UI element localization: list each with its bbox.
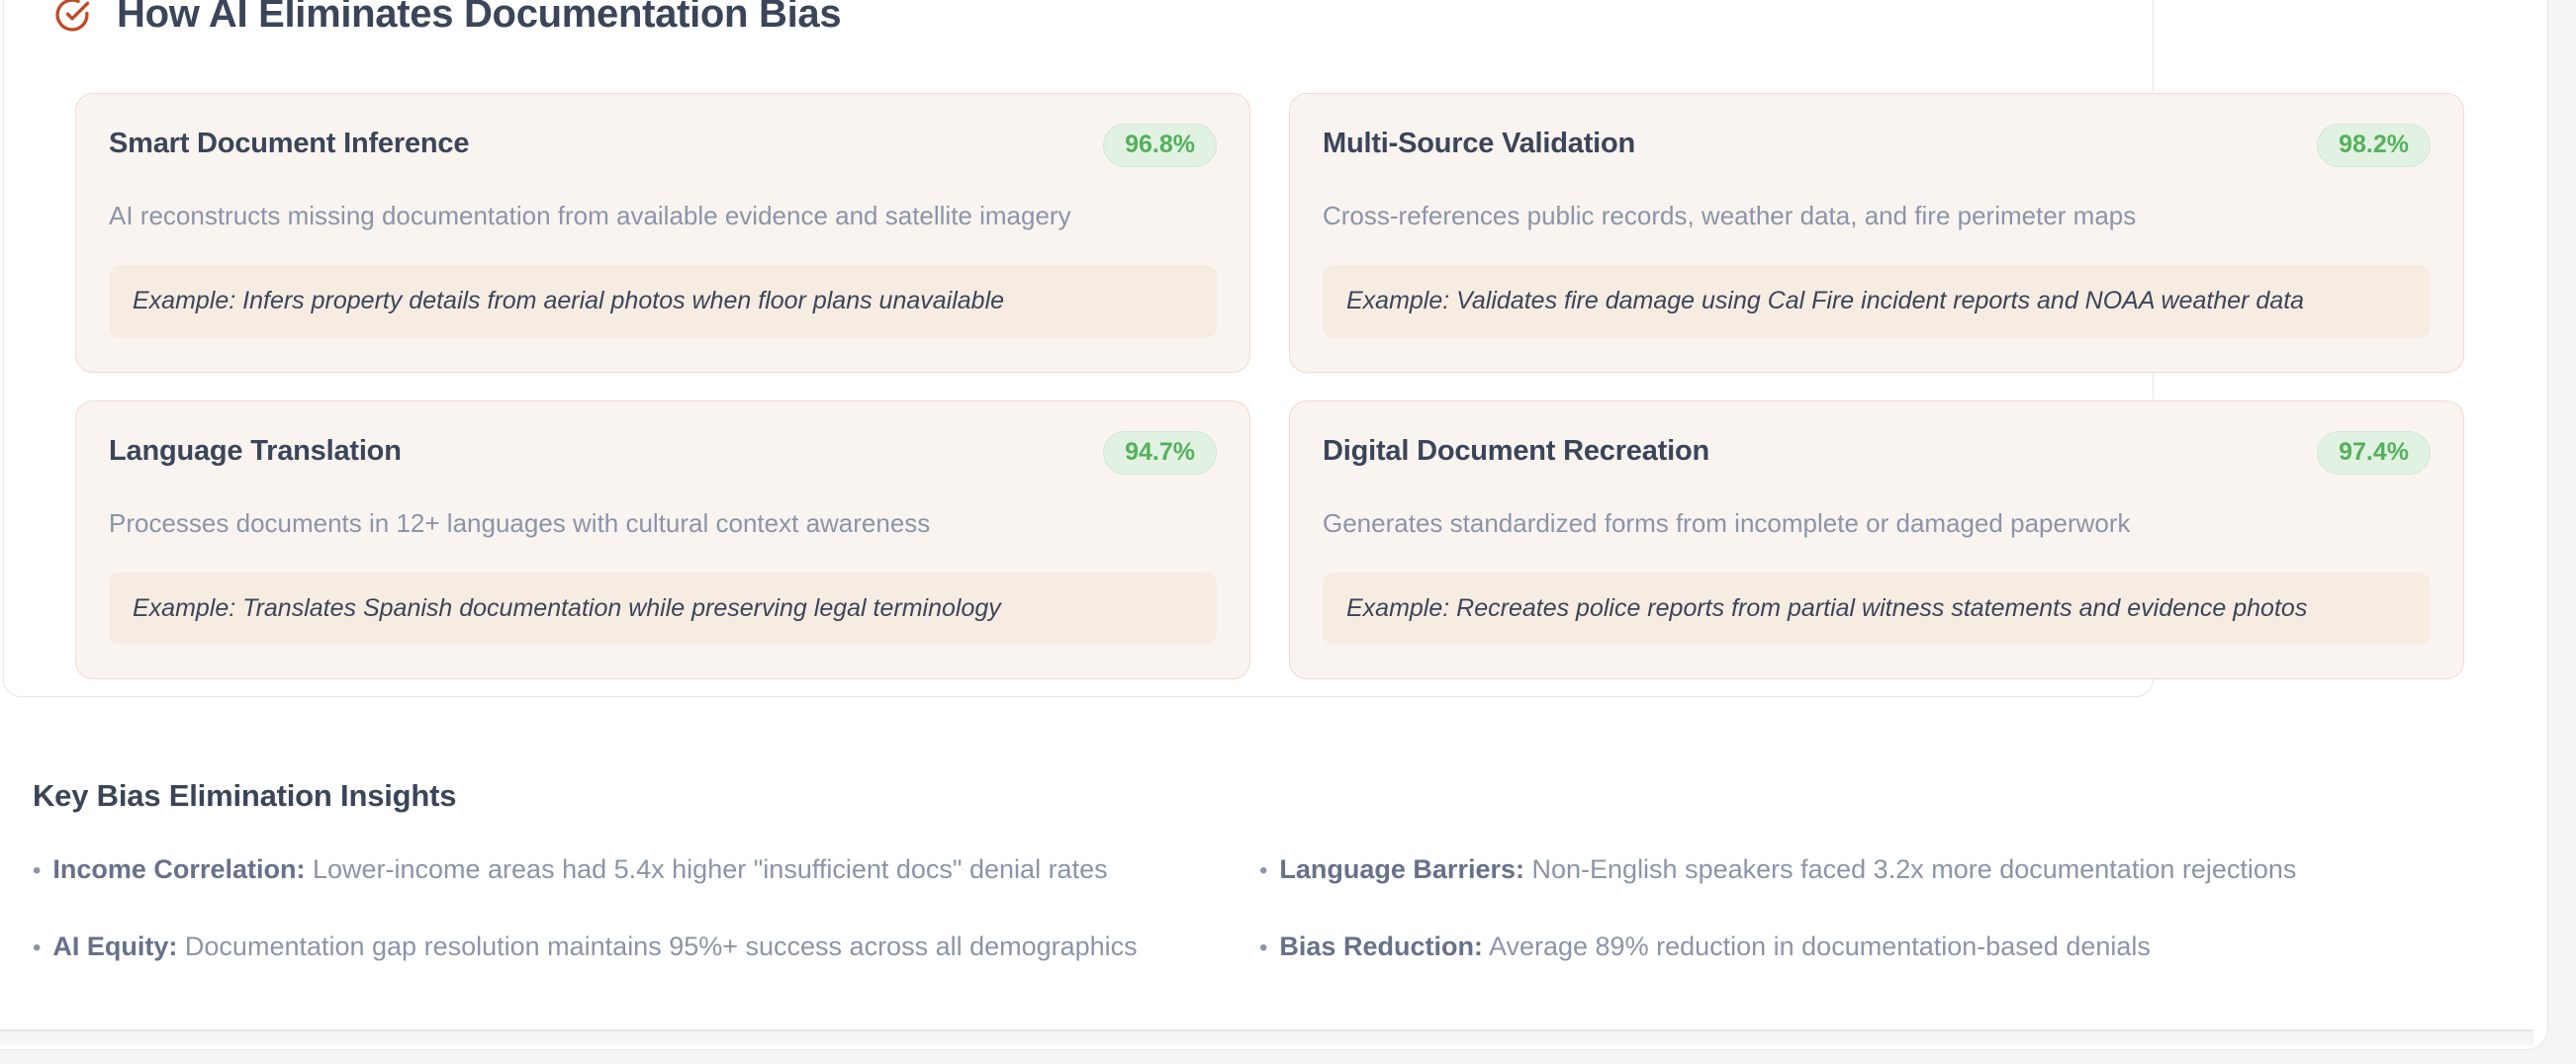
accuracy-badge: 94.7% <box>1103 431 1217 475</box>
capability-card-grid: Smart Document Inference 96.8% AI recons… <box>75 93 2464 679</box>
right-gutter <box>2552 0 2576 1064</box>
insight-item: • Income Correlation: Lower-income areas… <box>33 851 1259 887</box>
card-header: Digital Document Recreation 97.4% <box>1323 431 2431 475</box>
page-sheet: How AI Eliminates Documentation Bias Sma… <box>0 0 2548 1050</box>
card-example: Example: Infers property details from ae… <box>109 265 1217 338</box>
panel-header: How AI Eliminates Documentation Bias <box>53 0 841 37</box>
insight-text: Documentation gap resolution maintains 9… <box>185 931 1138 961</box>
insight-label: AI Equity: <box>52 931 177 961</box>
capability-card[interactable]: Language Translation 94.7% Processes doc… <box>75 400 1250 680</box>
insight-label: Language Barriers: <box>1279 854 1524 884</box>
bullet-icon: • <box>33 936 41 960</box>
accuracy-badge: 97.4% <box>2317 431 2431 475</box>
card-title: Multi-Source Validation <box>1323 124 1635 161</box>
key-insights-section: Key Bias Elimination Insights • Income C… <box>33 778 2466 965</box>
card-header: Multi-Source Validation 98.2% <box>1323 124 2431 167</box>
check-circle-icon <box>53 0 91 34</box>
accuracy-badge: 96.8% <box>1103 124 1217 167</box>
documentation-bias-panel: How AI Eliminates Documentation Bias Sma… <box>3 0 2154 697</box>
bullet-icon: • <box>1259 859 1267 883</box>
card-example: Example: Recreates police reports from p… <box>1323 573 2431 646</box>
insight-item: • Language Barriers: Non-English speaker… <box>1259 851 2466 887</box>
capability-card[interactable]: Multi-Source Validation 98.2% Cross-refe… <box>1289 93 2464 373</box>
card-header: Smart Document Inference 96.8% <box>109 124 1217 167</box>
bullet-icon: • <box>33 859 41 883</box>
accuracy-badge: 98.2% <box>2317 124 2431 167</box>
card-title: Smart Document Inference <box>109 124 469 161</box>
card-example: Example: Validates fire damage using Cal… <box>1323 265 2431 338</box>
capability-card[interactable]: Digital Document Recreation 97.4% Genera… <box>1289 400 2464 680</box>
page-title: How AI Eliminates Documentation Bias <box>117 0 841 37</box>
insight-label: Income Correlation: <box>52 854 305 884</box>
insight-item: • AI Equity: Documentation gap resolutio… <box>33 929 1259 964</box>
card-description: AI reconstructs missing documentation fr… <box>109 199 1217 233</box>
insights-grid: • Income Correlation: Lower-income areas… <box>33 851 2466 965</box>
insights-title: Key Bias Elimination Insights <box>33 778 2466 814</box>
insight-text: Non-English speakers faced 3.2x more doc… <box>1532 854 2297 884</box>
card-description: Processes documents in 12+ languages wit… <box>109 506 1217 541</box>
insight-label: Bias Reduction: <box>1279 931 1483 961</box>
capability-card[interactable]: Smart Document Inference 96.8% AI recons… <box>75 93 1250 373</box>
card-title: Digital Document Recreation <box>1323 431 1709 469</box>
card-example: Example: Translates Spanish documentatio… <box>109 573 1217 646</box>
insight-text: Average 89% reduction in documentation-b… <box>1489 931 2151 961</box>
card-header: Language Translation 94.7% <box>109 431 1217 475</box>
bottom-band <box>0 1031 2533 1045</box>
card-description: Cross-references public records, weather… <box>1323 199 2431 233</box>
bullet-icon: • <box>1259 936 1267 960</box>
card-title: Language Translation <box>109 431 402 469</box>
insight-item: • Bias Reduction: Average 89% reduction … <box>1259 929 2466 964</box>
card-description: Generates standardized forms from incomp… <box>1323 506 2431 541</box>
insight-text: Lower-income areas had 5.4x higher "insu… <box>313 854 1108 884</box>
